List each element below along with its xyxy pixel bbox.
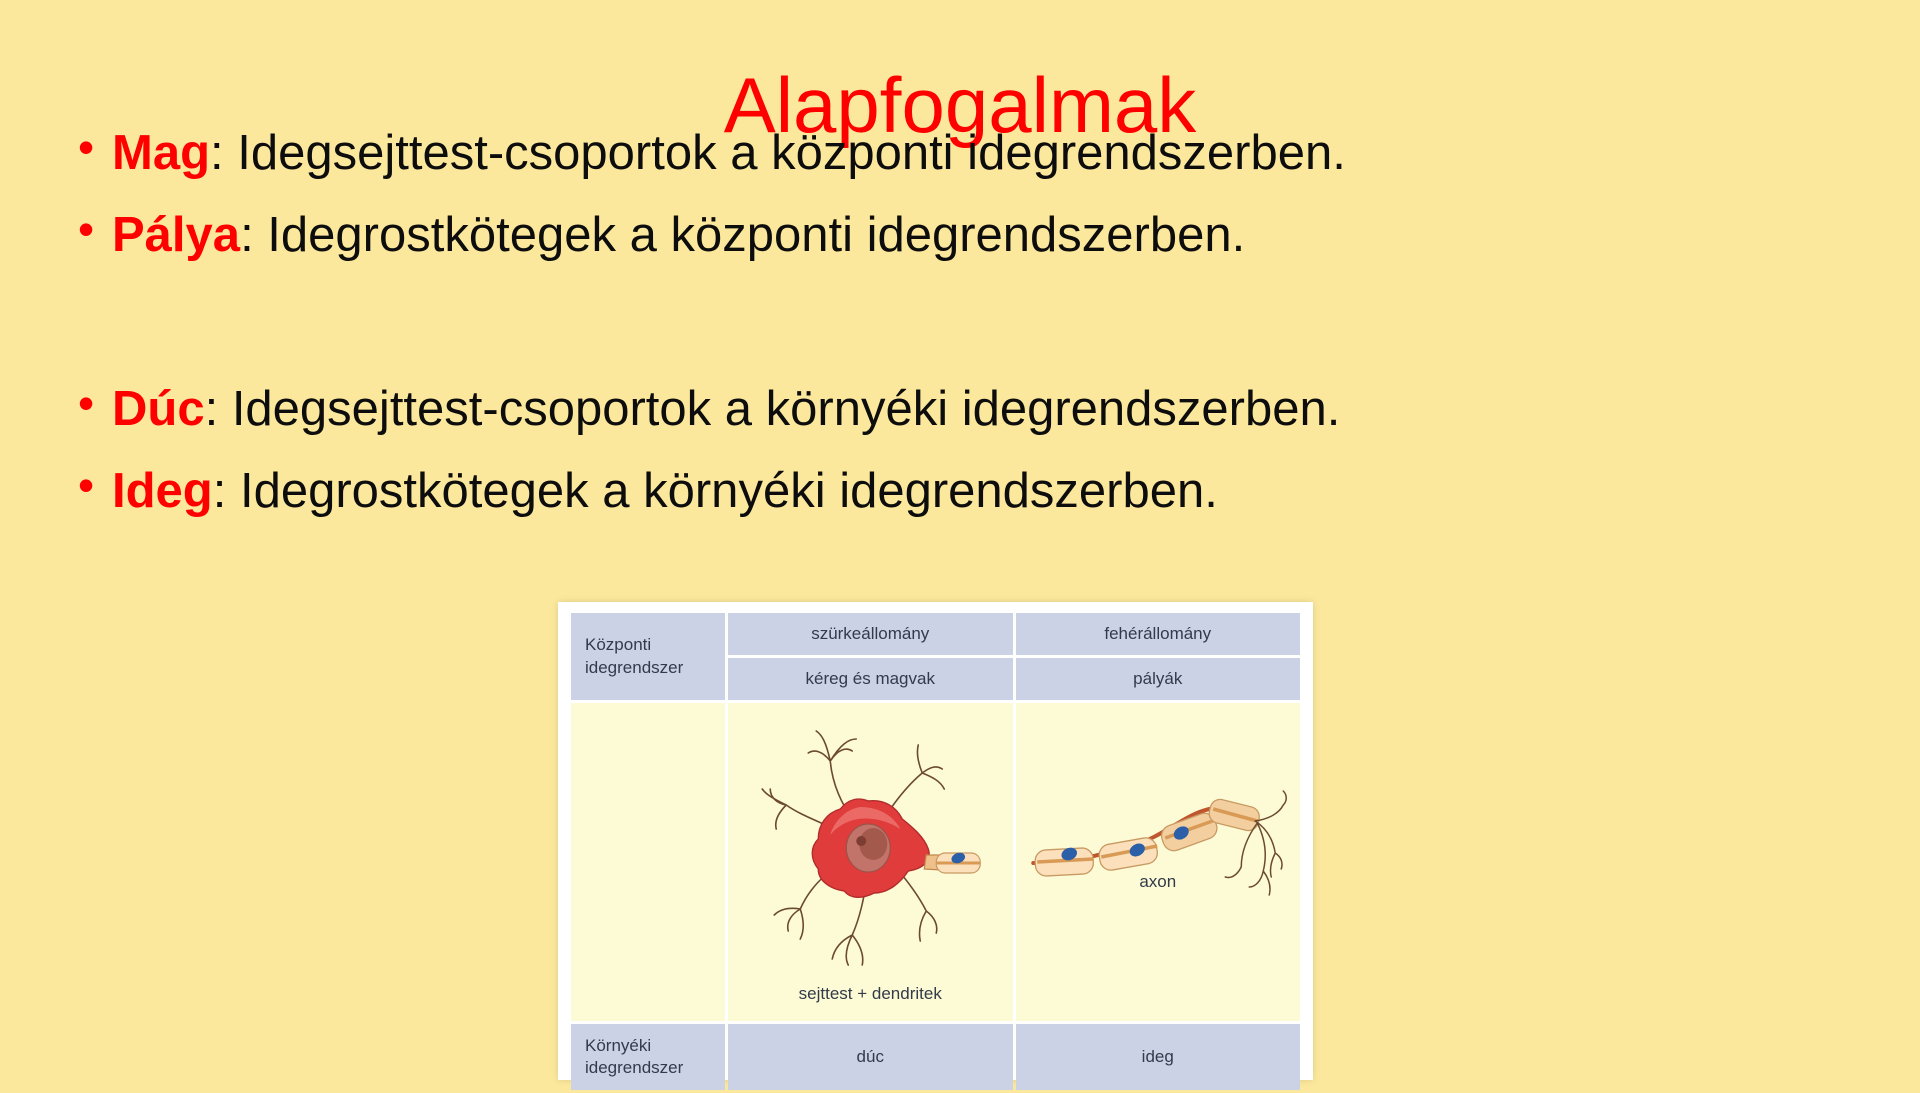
cell-white-matter: fehérállomány xyxy=(1016,613,1301,655)
slide-root: Alapfogalmak • Mag: Idegsejttest-csoport… xyxy=(0,0,1920,1080)
table-row: Környéki idegrendszer dúc ideg xyxy=(571,1024,1300,1090)
soma-caption: sejttest + dendritek xyxy=(728,983,1013,1005)
bullet-dot-icon: • xyxy=(78,462,112,508)
bullet-body: Idegsejttest-csoportok a környéki idegre… xyxy=(232,382,1341,436)
bullet-text: Pálya: Idegrostkötegek a központi idegre… xyxy=(112,210,1578,262)
cell-illustration-spacer xyxy=(571,703,725,1021)
bullet-text: Dúc: Idegsejttest-csoportok a környéki i… xyxy=(112,384,1578,436)
bullet-term: Dúc xyxy=(112,382,205,436)
bullet-term: Ideg xyxy=(112,464,213,518)
bullet-separator: : xyxy=(205,382,232,436)
bullet-body: Idegrostkötegek a környéki idegrendszerb… xyxy=(240,464,1218,518)
cell-gray-matter: szürkeállomány xyxy=(728,613,1013,655)
bullet-dot-icon: • xyxy=(78,206,112,252)
bullet-separator: : xyxy=(213,464,240,518)
list-item: • Ideg: Idegrostkötegek a környéki idegr… xyxy=(78,466,1578,548)
bullet-separator: : xyxy=(210,126,237,180)
list-item: • Dúc: Idegsejttest-csoportok a környéki… xyxy=(78,384,1578,466)
cell-soma-illustration: sejttest + dendritek xyxy=(728,703,1013,1021)
cell-cns-label: Központi idegrendszer xyxy=(571,613,725,700)
bullet-text: Ideg: Idegrostkötegek a környéki idegren… xyxy=(112,466,1578,518)
bullet-term: Pálya xyxy=(112,208,240,262)
cell-axon-illustration: axon xyxy=(1016,703,1301,1021)
list-item: • Pálya: Idegrostkötegek a központi ideg… xyxy=(78,210,1578,292)
cell-tracts: pályák xyxy=(1016,658,1301,700)
bullet-text: Mag: Idegsejttest-csoportok a központi i… xyxy=(112,128,1578,180)
bullet-body: Idegsejttest-csoportok a központi idegre… xyxy=(237,126,1346,180)
axon-caption: axon xyxy=(1016,871,1301,893)
cell-pns-label: Környéki idegrendszer xyxy=(571,1024,725,1090)
cell-nerve: ideg xyxy=(1016,1024,1301,1090)
neuron-soma-icon xyxy=(728,703,1013,1021)
bullet-body: Idegrostkötegek a központi idegrendszerb… xyxy=(267,208,1245,262)
bullet-term: Mag xyxy=(112,126,210,180)
list-item: • Mag: Idegsejttest-csoportok a központi… xyxy=(78,128,1578,210)
list-spacer xyxy=(78,292,1578,384)
myelinated-axon-icon xyxy=(1016,703,1301,1021)
bullet-dot-icon: • xyxy=(78,380,112,426)
myelin-segment xyxy=(1097,836,1159,872)
bullet-dot-icon: • xyxy=(78,124,112,170)
cell-ganglion: dúc xyxy=(728,1024,1013,1090)
table-row: Központi idegrendszer szürkeállomány feh… xyxy=(571,613,1300,655)
table-row: sejttest + dendritek xyxy=(571,703,1300,1021)
bullet-separator: : xyxy=(240,208,267,262)
cell-cortex-nuclei: kéreg és magvak xyxy=(728,658,1013,700)
bullet-list: • Mag: Idegsejttest-csoportok a központi… xyxy=(78,128,1578,548)
nervous-system-table: Központi idegrendszer szürkeállomány feh… xyxy=(568,610,1303,1093)
neuron-comparison-figure: Központi idegrendszer szürkeállomány feh… xyxy=(558,602,1313,1080)
